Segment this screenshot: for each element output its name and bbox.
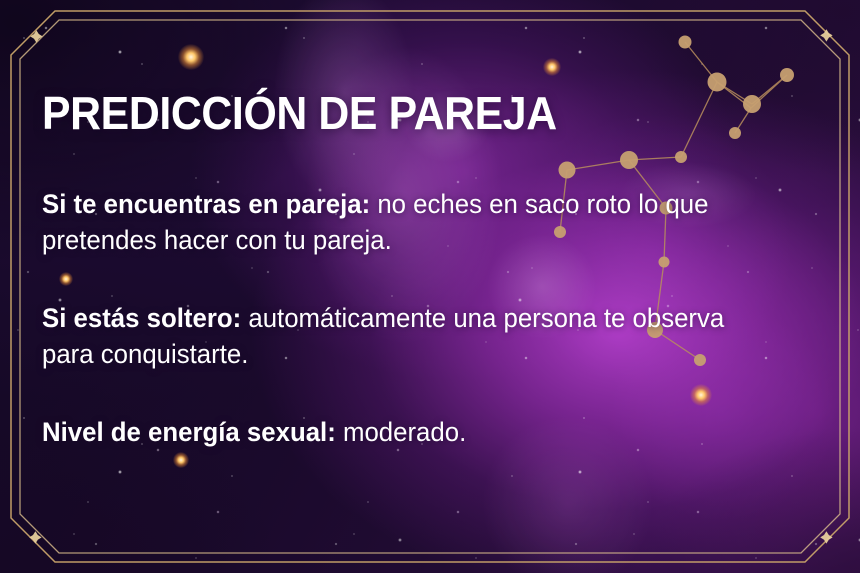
prediction-paragraph-1: Si te encuentras en pareja: no eches en … — [42, 186, 768, 258]
paragraph-1-lead: Si te encuentras en pareja: — [42, 189, 370, 219]
paragraph-2-lead: Si estás soltero: — [42, 303, 241, 333]
page-title: PREDICCIÓN DE PAREJA — [42, 90, 557, 136]
prediction-paragraph-2: Si estás soltero: automáticamente una pe… — [42, 300, 768, 372]
paragraph-3-body: moderado. — [336, 417, 466, 447]
card-content: PREDICCIÓN DE PAREJA Si te encuentras en… — [42, 0, 820, 573]
paragraph-3-lead: Nivel de energía sexual: — [42, 417, 336, 447]
prediction-paragraph-3: Nivel de energía sexual: moderado. — [42, 414, 768, 450]
horoscope-card: PREDICCIÓN DE PAREJA Si te encuentras en… — [0, 0, 860, 573]
